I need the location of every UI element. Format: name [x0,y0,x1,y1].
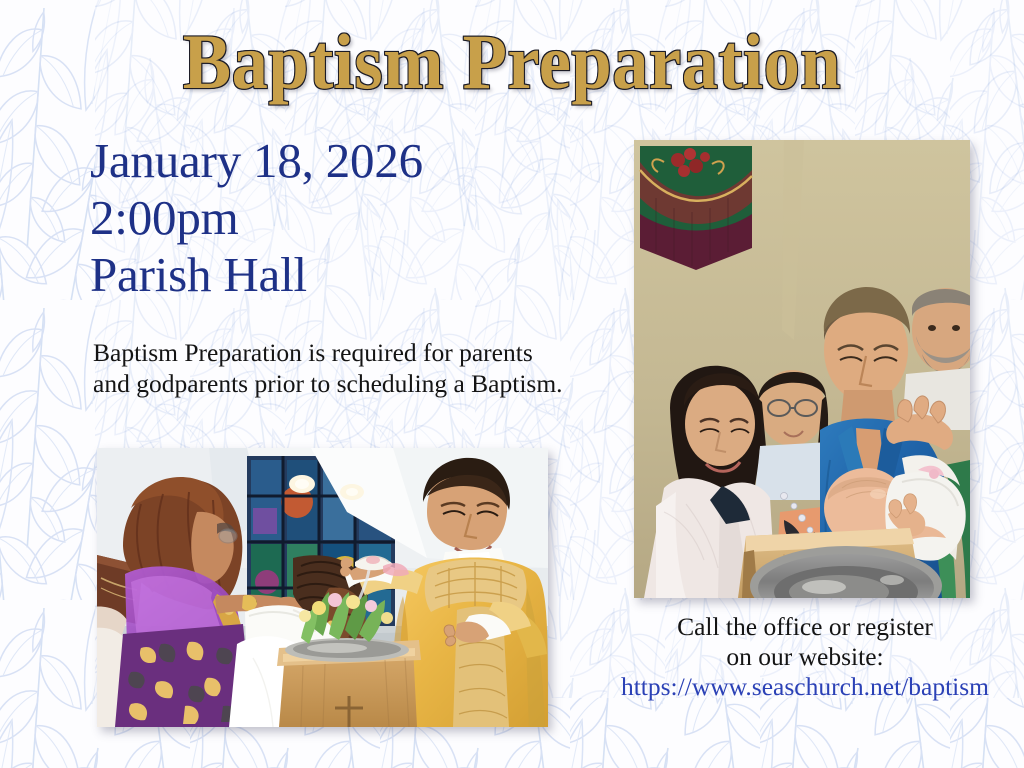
poster-title-text: Baptism Preparation [183,22,841,102]
poster-title: Baptism Preparation [0,22,1024,102]
contact-line-1: Call the office or register [620,612,990,642]
event-date: January 18, 2026 [90,133,423,190]
event-time: 2:00pm [90,190,423,247]
contact-line-2: on our website: [620,642,990,672]
contact-block: Call the office or register on our websi… [620,612,990,702]
poster-canvas: Baptism Preparation January 18, 2026 2:0… [0,0,1024,768]
event-details: January 18, 2026 2:00pm Parish Hall [90,133,423,303]
photo-child-baptism [97,448,548,727]
registration-url[interactable]: https://www.seaschurch.net/baptism [620,672,990,702]
photo-infant-baptism [634,140,970,598]
description-text: Baptism Preparation is required for pare… [93,337,563,399]
event-location: Parish Hall [90,247,423,304]
